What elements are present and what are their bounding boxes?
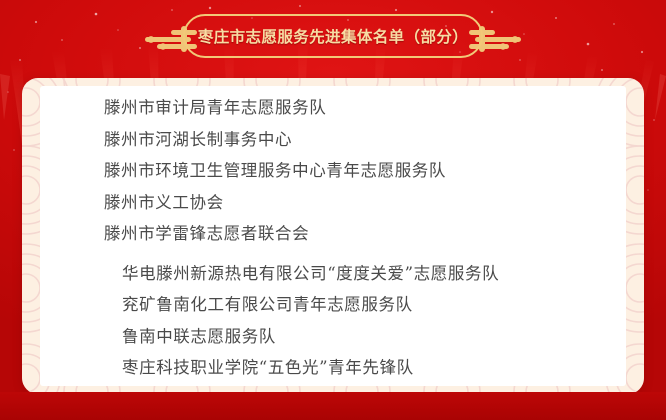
list-item: 华电滕州新源热电有限公司“度度关爱”志愿服务队 xyxy=(122,258,644,290)
list-item: 兖矿鲁南化工有限公司青年志愿服务队 xyxy=(122,289,644,321)
list-item: 滕州市河湖长制事务中心 xyxy=(104,124,644,156)
list-item: 滕州市审计局青年志愿服务队 xyxy=(104,92,644,124)
collective-name-list: 滕州市审计局青年志愿服务队 滕州市河湖长制事务中心 滕州市环境卫生管理服务中心青… xyxy=(22,78,644,394)
bottom-red-strip xyxy=(0,392,666,420)
list-item: 滕州市义工协会 xyxy=(104,187,644,219)
banner-title-text: 枣庄市志愿服务先进集体名单（部分） xyxy=(183,14,483,58)
list-item: 鲁南中联志愿服务队 xyxy=(122,321,644,353)
list-item: 滕州市学雷锋志愿者联合会 xyxy=(104,218,644,250)
title-banner: 枣庄市志愿服务先进集体名单（部分） xyxy=(183,14,483,58)
list-group-separator xyxy=(22,250,644,258)
list-item: 枣庄科技职业学院“五色光”青年先锋队 xyxy=(122,352,644,384)
content-panel: 滕州市审计局青年志愿服务队 滕州市河湖长制事务中心 滕州市环境卫生管理服务中心青… xyxy=(22,78,644,394)
list-item: 滕州市环境卫生管理服务中心青年志愿服务队 xyxy=(104,155,644,187)
poster-canvas: 枣庄市志愿服务先进集体名单（部分） xyxy=(0,0,666,420)
